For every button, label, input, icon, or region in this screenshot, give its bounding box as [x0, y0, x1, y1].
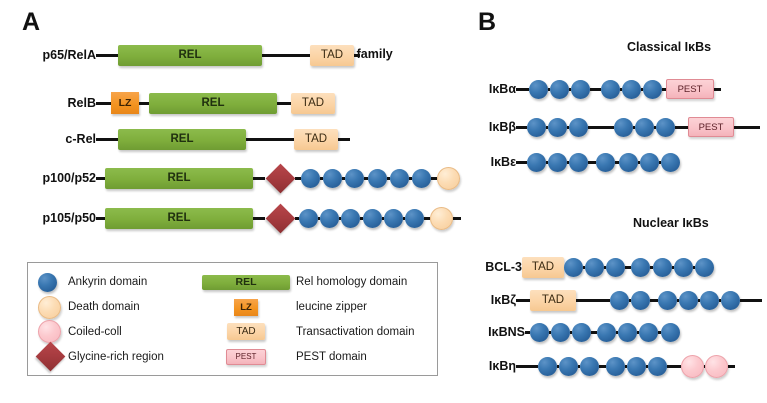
- ankyrin-circle: [661, 323, 680, 342]
- backbone-line: [516, 88, 529, 91]
- lz-box-icon: LZ: [234, 299, 258, 316]
- tad-domain-box: TAD: [291, 93, 335, 114]
- glycine-diamond-icon: [265, 163, 295, 193]
- legend-symbol-death: [38, 296, 64, 319]
- ankyrin-circle: [569, 118, 588, 137]
- legend-symbol-coiled-coil: [38, 320, 64, 343]
- backbone-line: [516, 299, 530, 302]
- backbone-line: [96, 217, 105, 220]
- ankyrin-circle: [622, 80, 641, 99]
- ankyrin-circle: [695, 258, 714, 277]
- domain-track: [516, 147, 680, 177]
- rel-domain-box: REL: [118, 45, 262, 66]
- legend-label-glycine: Glycine-rich region: [68, 351, 196, 363]
- protein-row-ikb-ns: IκBNS: [472, 317, 680, 347]
- ankyrin-circle: [529, 80, 548, 99]
- ankyrin-circle: [656, 118, 675, 137]
- ankyrin-circle: [606, 357, 625, 376]
- backbone-line: [588, 161, 596, 164]
- protein-row-p65-rela: p65/RelA REL TAD: [18, 40, 360, 70]
- backbone-line: [354, 54, 360, 57]
- backbone-line: [96, 177, 105, 180]
- rel-domain-box: REL: [149, 93, 277, 114]
- protein-row-ikb-eta: IκBη: [472, 351, 735, 381]
- pest-domain-box: PEST: [688, 117, 734, 137]
- lz-domain-box: LZ: [111, 92, 139, 114]
- ankyrin-circle: [527, 153, 546, 172]
- protein-label: p105/p50: [18, 212, 96, 225]
- ankyrin-circle: [661, 153, 680, 172]
- classical-ikbs-title: Classical IκBs: [627, 40, 711, 54]
- glycine-rich-region: [265, 203, 295, 233]
- ankyrin-circle: [679, 291, 698, 310]
- ankyrin-circle: [323, 169, 342, 188]
- protein-label: IκBNS: [472, 326, 525, 339]
- domain-track: REL TAD: [96, 40, 360, 70]
- ankyrin-circle: [320, 209, 339, 228]
- coiled-coil-circle: [681, 355, 704, 378]
- ankyrin-circle: [643, 80, 662, 99]
- coiled-coil-circle: [705, 355, 728, 378]
- ankyrin-circle: [363, 209, 382, 228]
- ankyrin-circle: [619, 153, 638, 172]
- protein-row-ikb-alpha: IκBα PEST: [472, 74, 721, 104]
- ankyrin-circle: [585, 258, 604, 277]
- protein-label: IκBζ: [472, 294, 516, 307]
- tad-domain-box: TAD: [530, 290, 576, 311]
- ankyrin-circle: [299, 209, 318, 228]
- ankyrin-circle: [564, 258, 583, 277]
- ankyrin-circle: [548, 118, 567, 137]
- rel-domain-box: REL: [105, 208, 253, 229]
- legend-box: Ankyrin domain REL Rel homology domain D…: [27, 262, 438, 376]
- protein-row-ikb-epsilon: IκBε: [472, 147, 680, 177]
- ankyrin-circle: [405, 209, 424, 228]
- glycine-diamond-icon: [265, 203, 295, 233]
- backbone-line: [714, 88, 721, 91]
- protein-row-p105-p50: p105/p50 REL: [18, 203, 461, 233]
- legend-symbol-ankyrin: [38, 273, 64, 292]
- domain-track: PEST: [516, 112, 760, 142]
- backbone-line: [650, 299, 658, 302]
- ankyrin-circle: [412, 169, 431, 188]
- legend-label-pest: PEST domain: [296, 351, 429, 363]
- backbone-line: [675, 126, 688, 129]
- ankyrin-circle: [550, 80, 569, 99]
- legend-label-death: Death domain: [68, 301, 196, 313]
- protein-row-relb: RelB LZ REL TAD: [18, 88, 335, 118]
- ankyrin-circle: [597, 323, 616, 342]
- protein-row-bcl-3: BCL-3 TAD: [472, 252, 714, 282]
- protein-row-ikb-zeta: IκBζ TAD: [472, 285, 762, 315]
- ankyrin-circle: [345, 169, 364, 188]
- ankyrin-circle: [571, 80, 590, 99]
- ankyrin-circle: [721, 291, 740, 310]
- backbone-line: [516, 161, 527, 164]
- domain-track: [516, 351, 735, 381]
- domain-track: [525, 317, 680, 347]
- pest-domain-box: PEST: [666, 79, 714, 99]
- pest-box-icon: PEST: [226, 349, 266, 365]
- legend-label-coiled-coil: Coiled-coll: [68, 326, 196, 338]
- backbone-line: [96, 54, 118, 57]
- domain-track: REL: [96, 163, 460, 193]
- death-circle-icon: [38, 296, 61, 319]
- ankyrin-circle: [618, 323, 637, 342]
- rel-domain-box: REL: [118, 129, 246, 150]
- domain-track: REL: [96, 203, 461, 233]
- backbone-line: [338, 138, 350, 141]
- legend-symbol-glycine: [38, 346, 64, 367]
- ankyrin-circle: [596, 153, 615, 172]
- tad-domain-box: TAD: [522, 257, 564, 278]
- backbone-line: [262, 54, 310, 57]
- legend-label-lz: leucine zipper: [296, 301, 429, 313]
- protein-row-ikb-beta: IκBβ PEST: [472, 112, 760, 142]
- death-domain-circle: [430, 207, 453, 230]
- protein-label: p100/p52: [18, 172, 96, 185]
- panel-b-letter: B: [478, 8, 496, 37]
- glycine-diamond-icon: [36, 342, 66, 372]
- ankyrin-circle: [527, 118, 546, 137]
- ankyrin-circle: [301, 169, 320, 188]
- backbone-line: [516, 365, 538, 368]
- domain-track: TAD: [522, 252, 714, 282]
- ankyrin-circle: [674, 258, 693, 277]
- ankyrin-circle: [551, 323, 570, 342]
- backbone-line: [253, 217, 265, 220]
- legend-symbol-pest: PEST: [200, 349, 292, 365]
- protein-label: p65/RelA: [18, 49, 96, 62]
- ankyrin-circle: [639, 323, 658, 342]
- legend-label-rel: Rel homology domain: [296, 276, 429, 288]
- legend-symbol-rel: REL: [200, 275, 292, 290]
- ankyrin-circle: [648, 357, 667, 376]
- ankyrin-circle: [631, 258, 650, 277]
- ankyrin-circle: [627, 357, 646, 376]
- protein-row-c-rel: c-Rel REL TAD: [18, 124, 350, 154]
- tad-box-icon: TAD: [227, 323, 265, 340]
- protein-label: c-Rel: [18, 133, 96, 146]
- ankyrin-circle: [658, 291, 677, 310]
- rel-domain-box: REL: [105, 168, 253, 189]
- coiled-coil-circle-icon: [38, 320, 61, 343]
- protein-label: BCL-3: [472, 261, 522, 274]
- glycine-rich-region: [265, 163, 295, 193]
- backbone-line: [588, 126, 614, 129]
- ankyrin-circle: [390, 169, 409, 188]
- legend-symbol-tad: TAD: [200, 323, 292, 340]
- legend-label-tad: Transactivation domain: [296, 326, 429, 338]
- ankyrin-circle: [569, 153, 588, 172]
- protein-label: RelB: [18, 97, 96, 110]
- domain-track: TAD: [516, 285, 762, 315]
- backbone-line: [277, 102, 291, 105]
- death-domain-circle: [437, 167, 460, 190]
- protein-label: IκBη: [472, 360, 516, 373]
- ankyrin-circle-icon: [38, 273, 57, 292]
- ankyrin-circle: [548, 153, 567, 172]
- backbone-line: [96, 138, 118, 141]
- ankyrin-circle: [530, 323, 549, 342]
- tad-domain-box: TAD: [310, 45, 354, 66]
- domain-track: PEST: [516, 74, 721, 104]
- panel-a-letter: A: [22, 8, 40, 37]
- backbone-line: [734, 126, 760, 129]
- ankyrin-circle: [640, 153, 659, 172]
- ankyrin-circle: [614, 118, 633, 137]
- ankyrin-circle: [631, 291, 650, 310]
- backbone-line: [740, 299, 762, 302]
- ankyrin-circle: [700, 291, 719, 310]
- backbone-line: [139, 102, 149, 105]
- backbone-line: [246, 138, 294, 141]
- protein-label: IκBβ: [472, 121, 516, 134]
- ankyrin-circle: [538, 357, 557, 376]
- legend-symbol-lz: LZ: [200, 299, 292, 316]
- backbone-line: [516, 126, 527, 129]
- backbone-line: [253, 177, 265, 180]
- backbone-line: [728, 365, 735, 368]
- rel-box-icon: REL: [202, 275, 290, 290]
- ankyrin-circle: [368, 169, 387, 188]
- legend-label-ankyrin: Ankyrin domain: [68, 276, 196, 288]
- domain-track: LZ REL TAD: [111, 88, 335, 118]
- protein-row-p100-p52: p100/p52 REL: [18, 163, 460, 193]
- ankyrin-circle: [559, 357, 578, 376]
- nuclear-ikbs-title: Nuclear IκBs: [633, 216, 709, 230]
- ankyrin-circle: [610, 291, 629, 310]
- ankyrin-circle: [384, 209, 403, 228]
- backbone-line: [667, 365, 681, 368]
- backbone-line: [599, 365, 606, 368]
- backbone-line: [576, 299, 610, 302]
- domain-track: REL TAD: [96, 124, 350, 154]
- ankyrin-circle: [580, 357, 599, 376]
- protein-label: IκBε: [472, 156, 516, 169]
- ankyrin-circle: [341, 209, 360, 228]
- backbone-line: [453, 217, 461, 220]
- ankyrin-circle: [606, 258, 625, 277]
- backbone-line: [590, 88, 601, 91]
- ankyrin-circle: [635, 118, 654, 137]
- backbone-line: [96, 102, 111, 105]
- ankyrin-circle: [601, 80, 620, 99]
- ankyrin-circle: [572, 323, 591, 342]
- ankyrin-circle: [653, 258, 672, 277]
- protein-label: IκBα: [472, 83, 516, 96]
- tad-domain-box: TAD: [294, 129, 338, 150]
